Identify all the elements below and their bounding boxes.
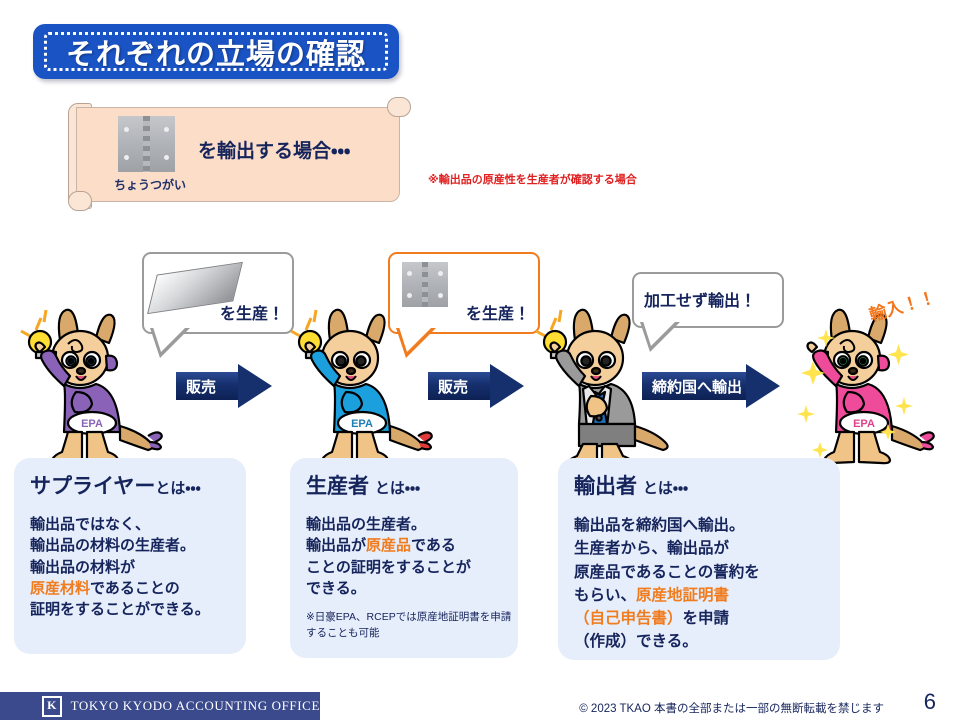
page-title: それぞれの立場の確認	[33, 24, 399, 79]
flow-arrow-sell-1: 販売	[176, 364, 272, 408]
card-line-tail: であることの	[90, 580, 180, 597]
card-title-suffix-3: とは・・・	[643, 480, 688, 497]
arrow-label-1: 販売	[186, 376, 216, 397]
card-title-2: 生産者 とは・・・	[306, 470, 420, 500]
card-supplier: サプライヤーとは・・・ 輸出品ではなく、 輸出品の材料の生産者。 輸出品の材料が…	[14, 458, 246, 654]
flow-arrow-sell-2: 販売	[428, 364, 524, 408]
card-line-tail: を申請	[683, 610, 730, 627]
card-title-suffix-2: とは・・・	[375, 480, 420, 497]
card-note-2: ※日豪EPA、RCEPでは原産地証明書を申請することも可能	[306, 610, 512, 642]
copyright-text: © 2023 TKAO 本書の全部または一部の無断転載を禁じます	[579, 700, 884, 716]
card-line: もらい、原産地証明書	[574, 584, 832, 607]
card-body-2: 輸出品の生産者。 輸出品が原産品である ことの証明をすることが できる。	[306, 514, 510, 599]
card-line-head: 輸出品が	[306, 537, 366, 554]
card-line: 証明をすることができる。	[30, 599, 238, 620]
page-number: 6	[924, 689, 936, 715]
highlight-text: 原産材料	[30, 580, 90, 597]
hinge-caption: ちょうつがい	[114, 176, 186, 193]
card-title-3: 輸出者 とは・・・	[574, 470, 688, 500]
card-line: 輸出品の材料が	[30, 557, 238, 578]
card-producer: 生産者 とは・・・ 輸出品の生産者。 輸出品が原産品である ことの証明をすること…	[290, 458, 518, 658]
card-line: 輸出品が原産品である	[306, 535, 510, 556]
card-body-1: 輸出品ではなく、 輸出品の材料の生産者。 輸出品の材料が 原産材料であることの …	[30, 514, 238, 620]
banner-text: を輸出する場合・・・	[198, 136, 350, 163]
card-body-3: 輸出品を締約国へ輸出。 生産者から、輸出品が 原産品であることの誓約を もらい、…	[574, 514, 832, 654]
card-title-text-3: 輸出者	[574, 475, 637, 498]
svg-text:EPA: EPA	[853, 418, 875, 430]
card-exporter: 輸出者 とは・・・ 輸出品を締約国へ輸出。 生産者から、輸出品が 原産品であるこ…	[558, 458, 840, 660]
card-line: ことの証明をすることが	[306, 557, 510, 578]
footer-logo-bar: K TOKYO KYODO ACCOUNTING OFFICE	[0, 692, 320, 720]
arrow-label-3: 締約国へ輸出	[652, 376, 742, 397]
card-line: （作成）できる。	[574, 630, 832, 653]
svg-text:EPA: EPA	[81, 418, 103, 430]
card-line: 輸出品を締約国へ輸出。	[574, 514, 832, 537]
scroll-curl-bottom-left	[68, 191, 92, 211]
importer-kangaroo: EPA	[790, 300, 940, 465]
card-title-text-1: サプライヤー	[30, 475, 155, 498]
card-line: 輸出品の生産者。	[306, 514, 510, 535]
card-line-tail: である	[411, 537, 456, 554]
scroll-curl-top-right	[387, 97, 411, 117]
producer-kangaroo: EPA	[288, 300, 438, 460]
slide-title-box: それぞれの立場の確認	[33, 24, 399, 79]
company-name: TOKYO KYODO ACCOUNTING OFFICE	[71, 698, 320, 714]
card-line: できる。	[306, 578, 510, 599]
card-line: （自己申告書）を申請	[574, 607, 832, 630]
highlight-text: 原産地証明書	[636, 587, 729, 604]
svg-text:EPA: EPA	[351, 418, 373, 430]
card-title-suffix-1: とは・・・	[155, 480, 200, 497]
card-line: 原産材料であることの	[30, 578, 238, 599]
slide-root: それぞれの立場の確認 ちょうつがい を輸出する場合・・・ ※輸出品の原産性を生産…	[0, 0, 960, 720]
highlight-text: 原産品	[366, 537, 411, 554]
bubble-label-1: を生産！	[220, 300, 284, 324]
card-title-text-2: 生産者	[306, 475, 369, 498]
card-line: 生産者から、輸出品が	[574, 537, 832, 560]
card-line-head: もらい、	[574, 587, 636, 604]
supplier-kangaroo: EPA	[18, 300, 168, 460]
bubble-label-2: を生産！	[466, 300, 530, 324]
arrow-label-2: 販売	[438, 376, 468, 397]
card-line: 輸出品ではなく、	[30, 514, 238, 535]
card-line: 原産品であることの誓約を	[574, 561, 832, 584]
company-logo-icon: K	[42, 696, 62, 717]
red-annotation: ※輸出品の原産性を生産者が確認する場合	[428, 171, 637, 187]
card-title-1: サプライヤーとは・・・	[30, 470, 201, 500]
card-line: 輸出品の材料の生産者。	[30, 535, 238, 556]
highlight-text: （自己申告書）	[574, 610, 683, 627]
hinge-icon	[118, 116, 175, 172]
